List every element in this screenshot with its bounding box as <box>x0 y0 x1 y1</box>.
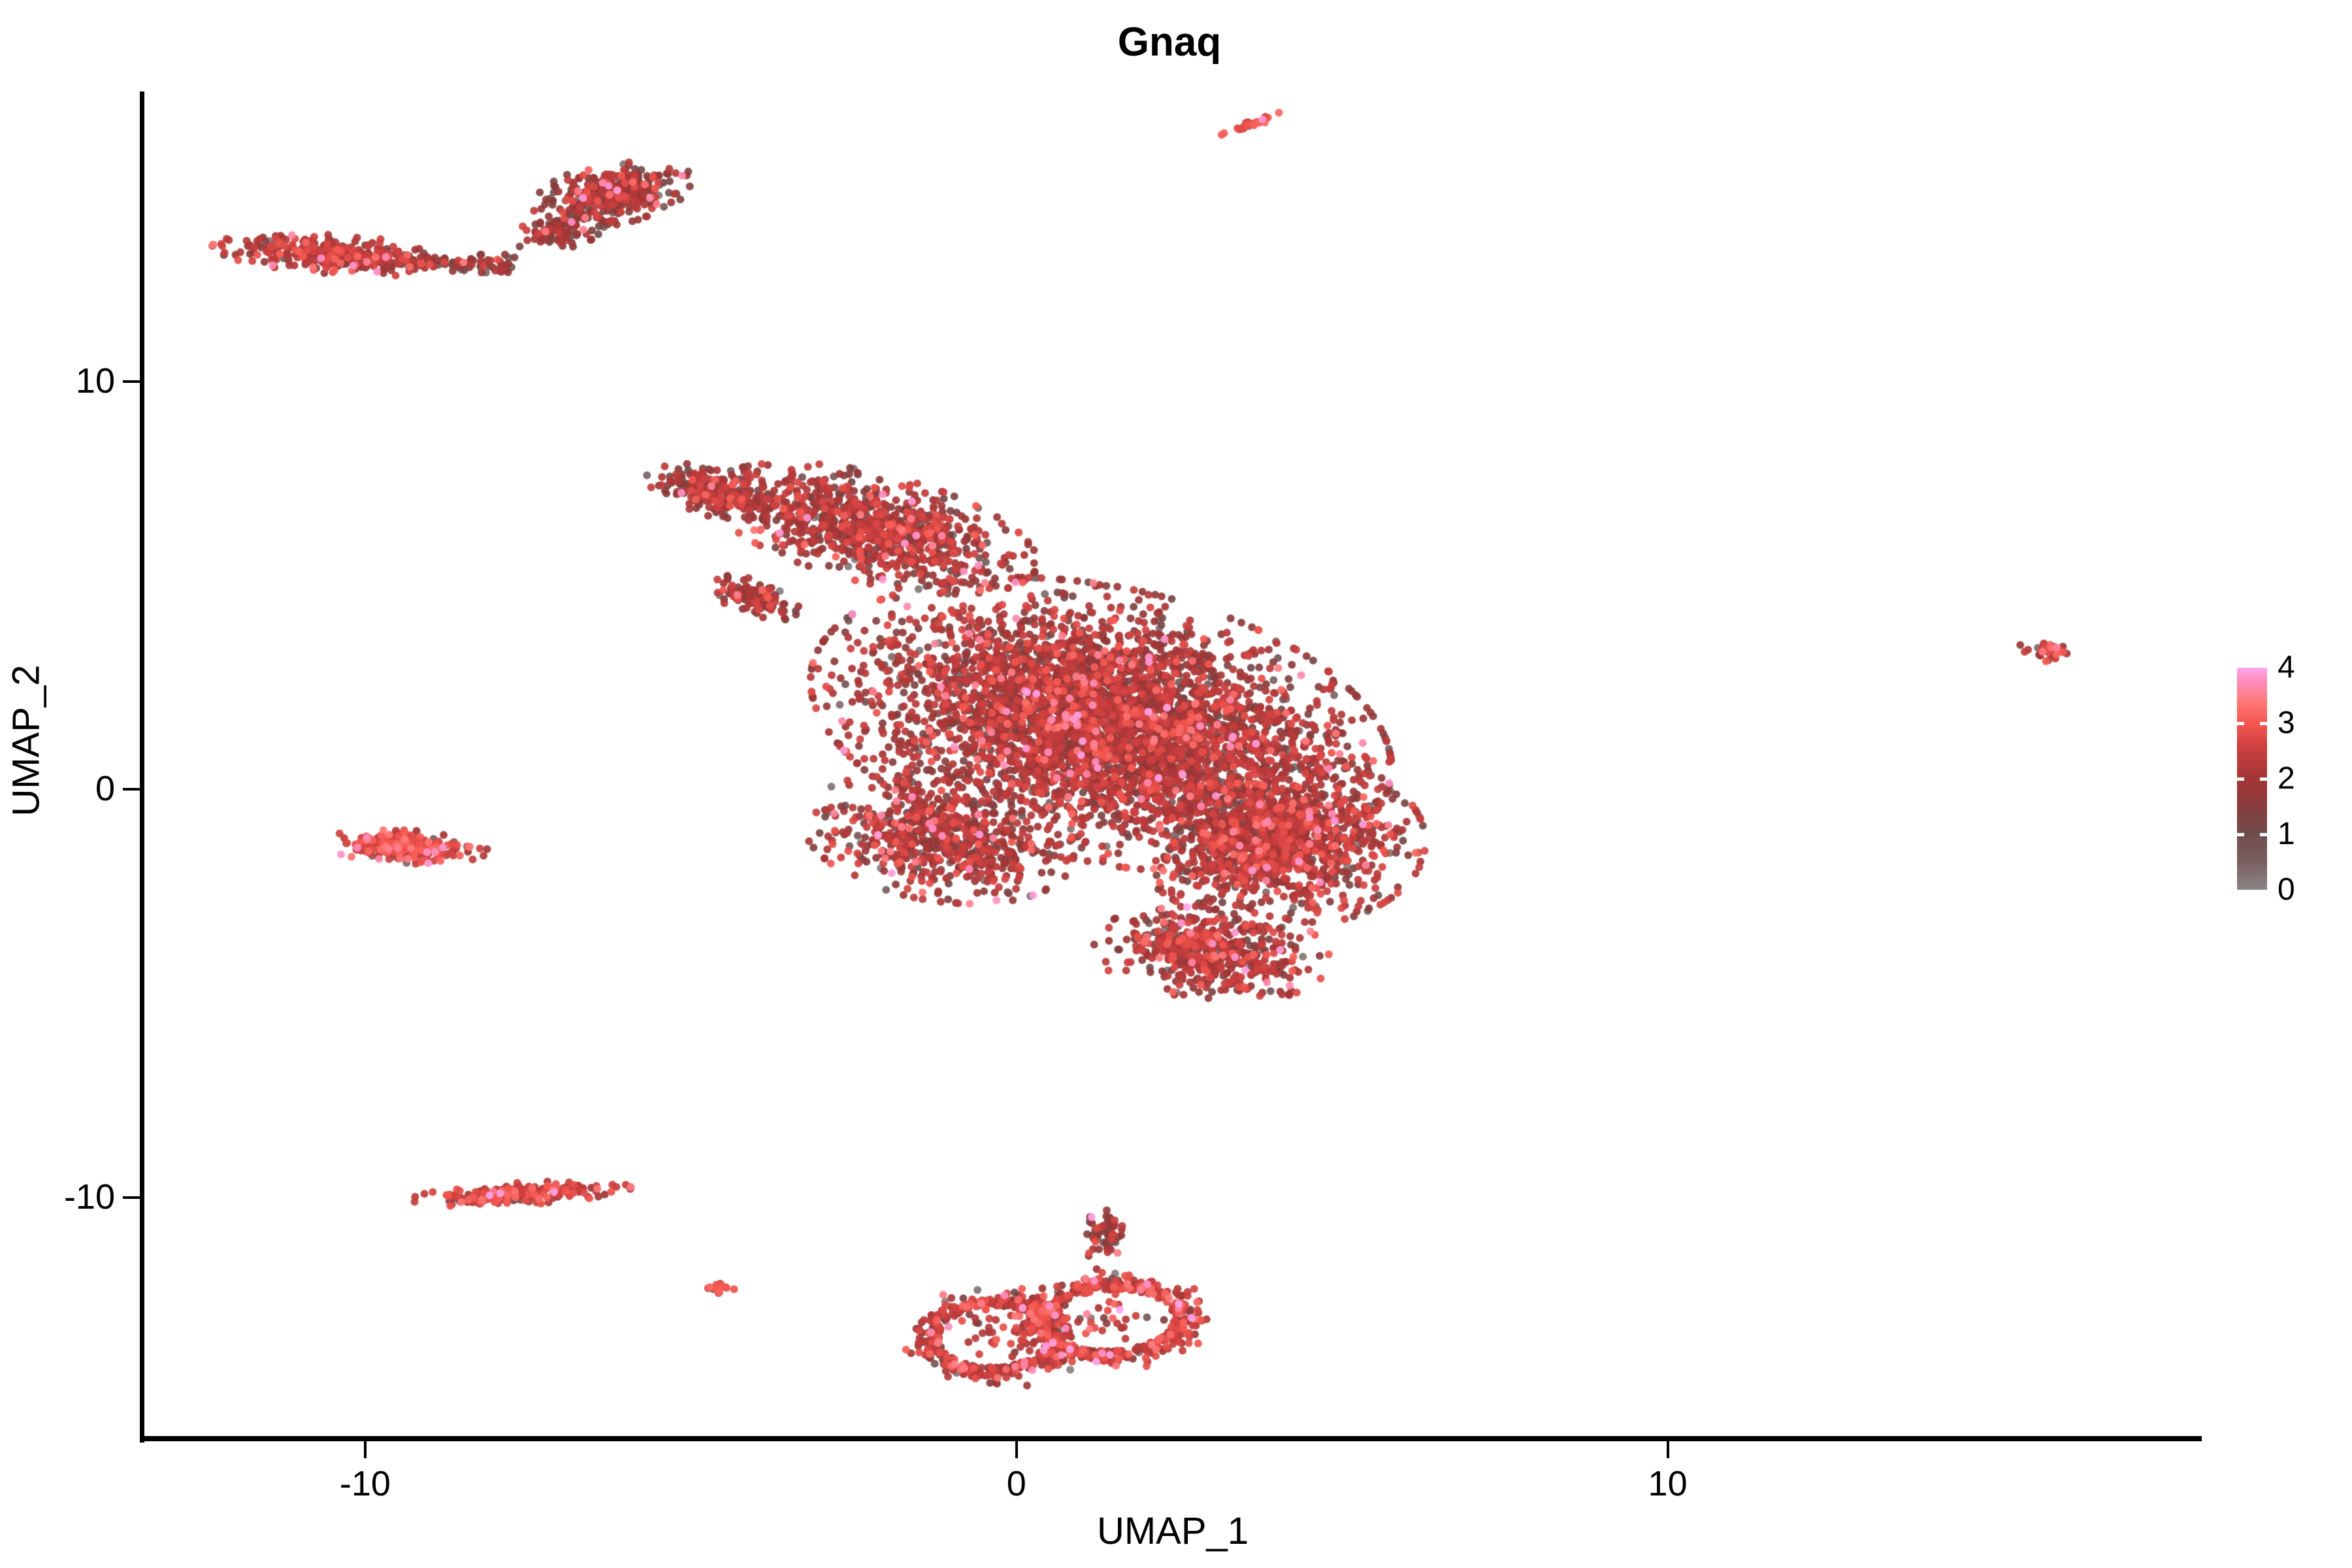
legend-tick-label: 3 <box>2278 708 2295 739</box>
x-axis-label: UMAP_1 <box>144 1509 2202 1553</box>
y-axis-label: UMAP_2 <box>5 512 48 970</box>
legend-tick-mark <box>2260 722 2267 725</box>
legend-tick-mark <box>2260 833 2267 836</box>
x-tick-label: 0 <box>919 1463 1115 1504</box>
legend-tick-mark <box>2260 777 2267 781</box>
plot-panel <box>144 91 2202 1439</box>
x-tick-mark <box>1667 1441 1669 1458</box>
legend-tick-label: 2 <box>2278 763 2295 794</box>
y-tick-mark <box>123 788 140 791</box>
x-tick-label: -10 <box>267 1463 463 1504</box>
y-tick-mark <box>123 1196 140 1199</box>
legend-tick-label: 4 <box>2278 652 2295 683</box>
color-legend: 43210 <box>2237 664 2342 899</box>
y-tick-label: -10 <box>0 1179 115 1215</box>
x-tick-mark <box>1015 1441 1018 1458</box>
legend-tick-mark <box>2237 722 2244 725</box>
page-title: Gnaq <box>0 22 2339 63</box>
legend-tick-mark <box>2237 833 2244 836</box>
y-tick-mark <box>123 380 140 383</box>
legend-tick-label: 1 <box>2278 819 2295 850</box>
x-tick-mark <box>364 1441 367 1458</box>
y-axis-line <box>140 91 144 1443</box>
legend-tick-mark <box>2237 777 2244 781</box>
umap-feature-plot: Gnaq -10010 100-10 UMAP_1 UMAP_2 43210 <box>0 0 2352 1568</box>
legend-tick-label: 0 <box>2278 874 2295 906</box>
y-tick-label: 10 <box>0 363 115 399</box>
x-tick-label: 10 <box>1570 1463 1766 1504</box>
x-axis-line <box>140 1436 2202 1441</box>
